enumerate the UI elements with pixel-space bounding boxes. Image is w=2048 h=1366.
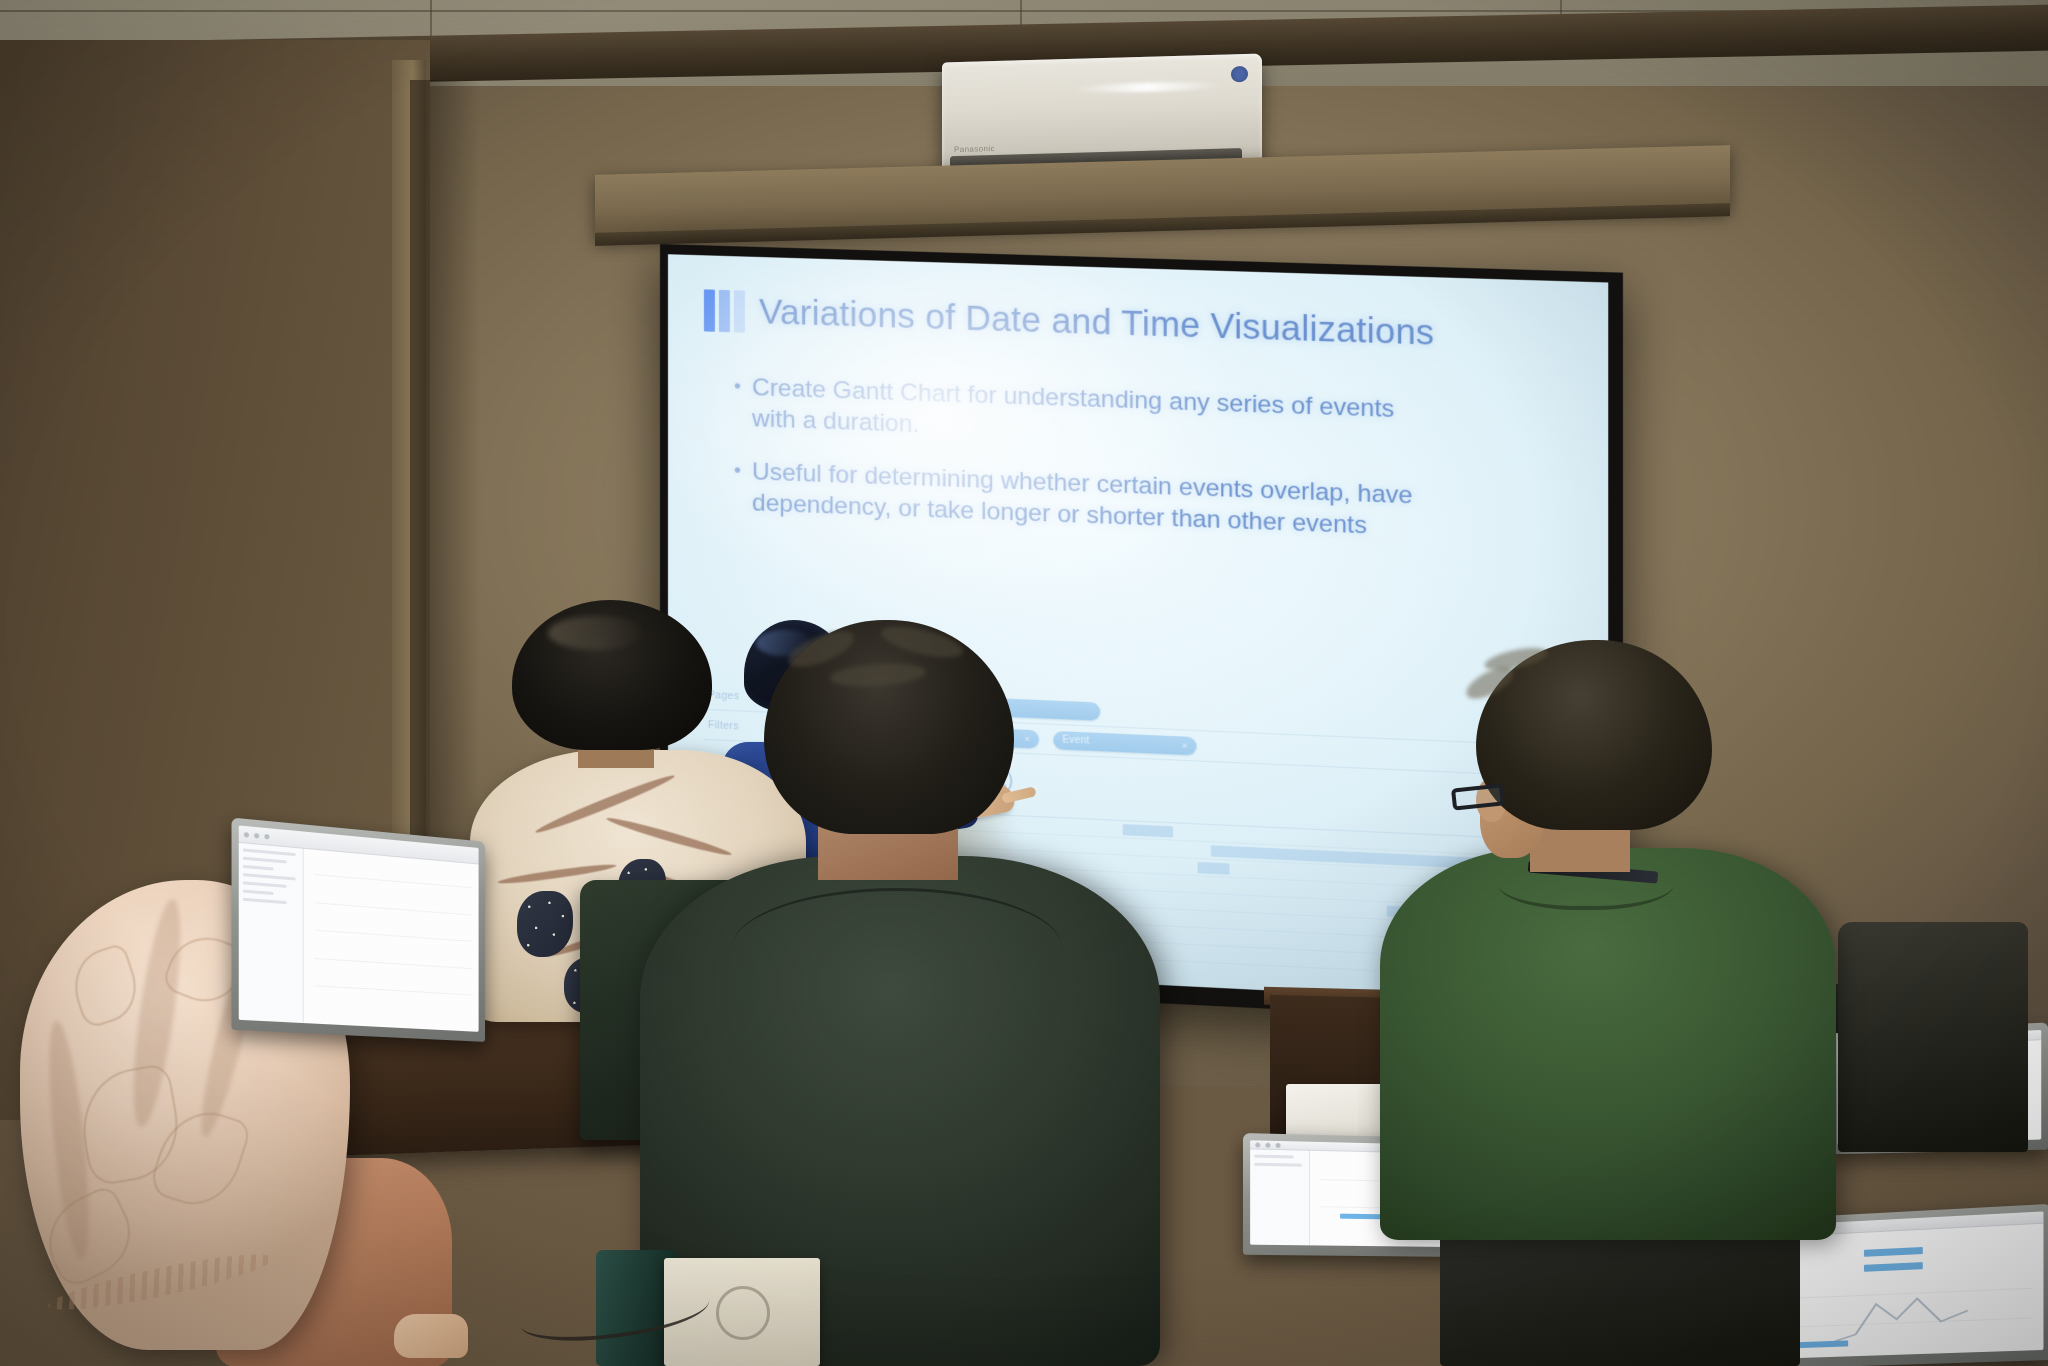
toolbar-icon xyxy=(244,832,249,838)
pill-remove-icon[interactable]: × xyxy=(1182,740,1187,750)
app-canvas xyxy=(304,849,479,1032)
box-print-icon xyxy=(716,1286,770,1340)
slide-bullet-item: • Useful for determining whether certain… xyxy=(734,456,1439,544)
toolbar-icon xyxy=(1265,1142,1270,1147)
app-sidebar xyxy=(239,843,304,1023)
slide-accent-bars-icon xyxy=(704,289,745,332)
toolbar-icon xyxy=(264,833,269,839)
slide-bullet-item: • Create Gantt Chart for understanding a… xyxy=(734,372,1439,459)
toolbar-icon xyxy=(1255,1142,1260,1147)
line-chart-icon xyxy=(1832,1290,1979,1345)
classroom-presentation-photo: Panasonic Variations of Date and Time Vi… xyxy=(0,0,2048,1366)
bullet-dot-icon: • xyxy=(734,456,741,518)
bullet-dot-icon: • xyxy=(734,372,741,434)
slide-title-row: Variations of Date and Time Visualizatio… xyxy=(704,289,1570,359)
far-right-office-chair xyxy=(1838,922,2028,1152)
hijab-participant-hand xyxy=(394,1314,468,1358)
participant-green-shirt xyxy=(1380,640,1840,1240)
hoodie-seam xyxy=(732,888,1062,1008)
app-canvas xyxy=(1775,1224,2043,1359)
app-sidebar xyxy=(1250,1150,1310,1246)
ac-brand-badge-icon xyxy=(1231,66,1248,82)
toolbar-icon xyxy=(254,833,259,839)
laptop-hijab-participant[interactable] xyxy=(232,818,486,1042)
slide-title: Variations of Date and Time Visualizatio… xyxy=(759,292,1434,354)
gantt-bar xyxy=(1198,862,1229,875)
app-body xyxy=(239,843,479,1032)
bullet-text: Useful for determining whether certain e… xyxy=(752,457,1439,545)
batik-participant-hair-highlight xyxy=(548,616,644,650)
slide-bullet-list: • Create Gantt Chart for understanding a… xyxy=(734,372,1570,549)
ac-brand-text: Panasonic xyxy=(954,144,995,154)
laptop-lid xyxy=(232,818,486,1042)
toolbar-icon xyxy=(1276,1143,1281,1148)
bullet-text: Create Gantt Chart for understanding any… xyxy=(752,373,1439,459)
participant-hoodie xyxy=(640,620,1160,1366)
ac-highlight xyxy=(1072,81,1222,94)
laptop-screen xyxy=(239,825,479,1031)
